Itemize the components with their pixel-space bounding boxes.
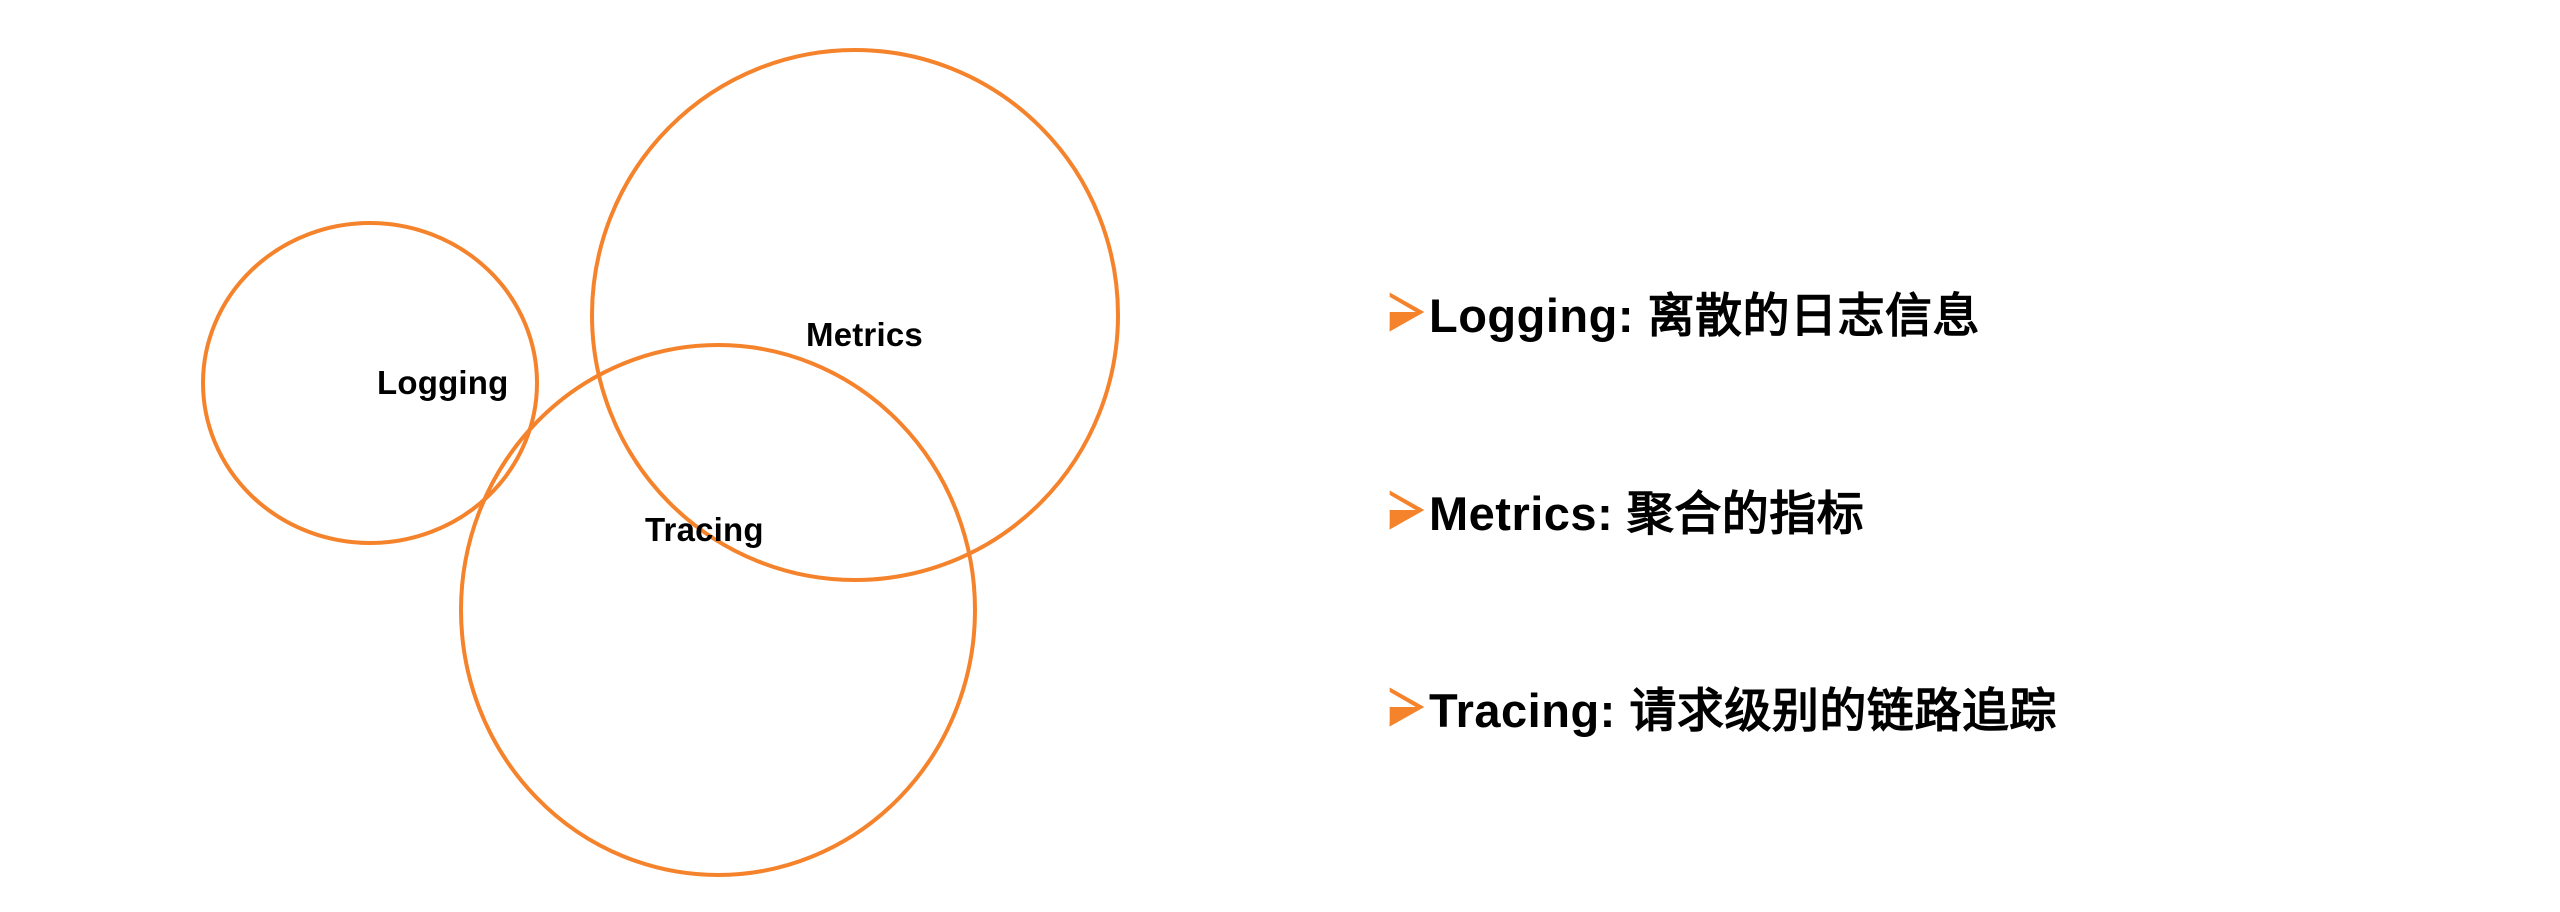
bullet-text-logging: Logging: 离散的日志信息	[1429, 289, 1980, 343]
bullet-item-logging: Logging: 离散的日志信息	[1385, 280, 1980, 343]
slide-canvas: Logging Metrics Tracing Logging: 离散的日志信息	[0, 0, 2560, 912]
arrow-bullet-icon	[1385, 681, 1429, 733]
bullet-desc-logging: 离散的日志信息	[1648, 289, 1981, 342]
venn-label-tracing: Tracing	[645, 513, 764, 546]
bullet-list: Logging: 离散的日志信息 Metrics: 聚合的指标	[1385, 0, 2560, 912]
venn-diagram-svg	[0, 0, 1300, 912]
venn-label-metrics: Metrics	[806, 318, 923, 351]
bullet-desc-metrics: 聚合的指标	[1627, 487, 1865, 540]
bullet-item-tracing: Tracing: 请求级别的链路追踪	[1385, 675, 2057, 738]
bullet-term-logging: Logging:	[1429, 289, 1634, 342]
venn-diagram: Logging Metrics Tracing	[0, 0, 1300, 912]
venn-label-logging: Logging	[377, 366, 509, 399]
bullet-text-tracing: Tracing: 请求级别的链路追踪	[1429, 684, 2057, 738]
arrow-bullet-icon	[1385, 484, 1429, 536]
bullet-desc-tracing: 请求级别的链路追踪	[1629, 684, 2057, 737]
bullet-text-metrics: Metrics: 聚合的指标	[1429, 487, 1864, 541]
bullet-term-metrics: Metrics:	[1429, 487, 1613, 540]
venn-circle-tracing	[461, 345, 975, 875]
arrow-bullet-icon	[1385, 286, 1429, 338]
bullet-term-tracing: Tracing:	[1429, 684, 1616, 737]
bullet-item-metrics: Metrics: 聚合的指标	[1385, 478, 1864, 541]
venn-circle-metrics	[592, 50, 1118, 580]
